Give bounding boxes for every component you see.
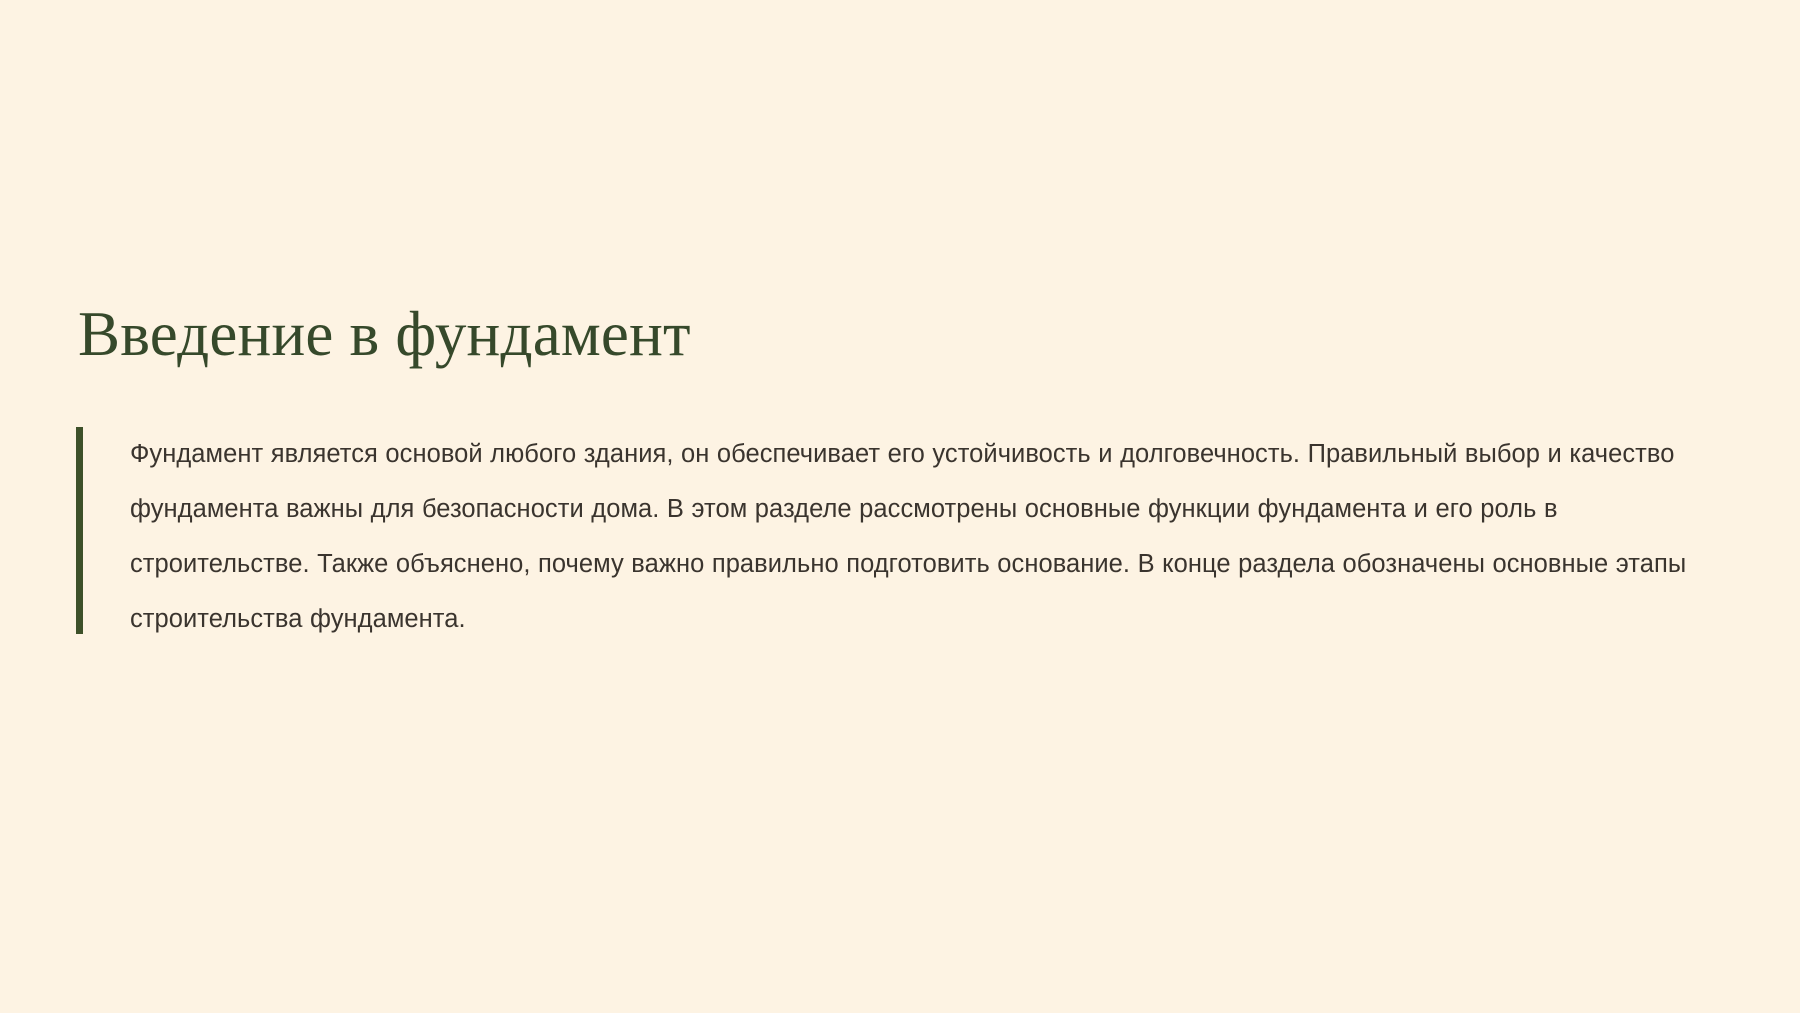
document-page: Введение в фундамент Фундамент является …: [0, 0, 1800, 1013]
page-title: Введение в фундамент: [76, 300, 1724, 368]
intro-section: Введение в фундамент Фундамент является …: [76, 300, 1724, 647]
intro-paragraph: Фундамент является основой любого здания…: [130, 427, 1712, 647]
accent-bar: [76, 427, 83, 634]
intro-callout: Фундамент является основой любого здания…: [76, 427, 1724, 647]
